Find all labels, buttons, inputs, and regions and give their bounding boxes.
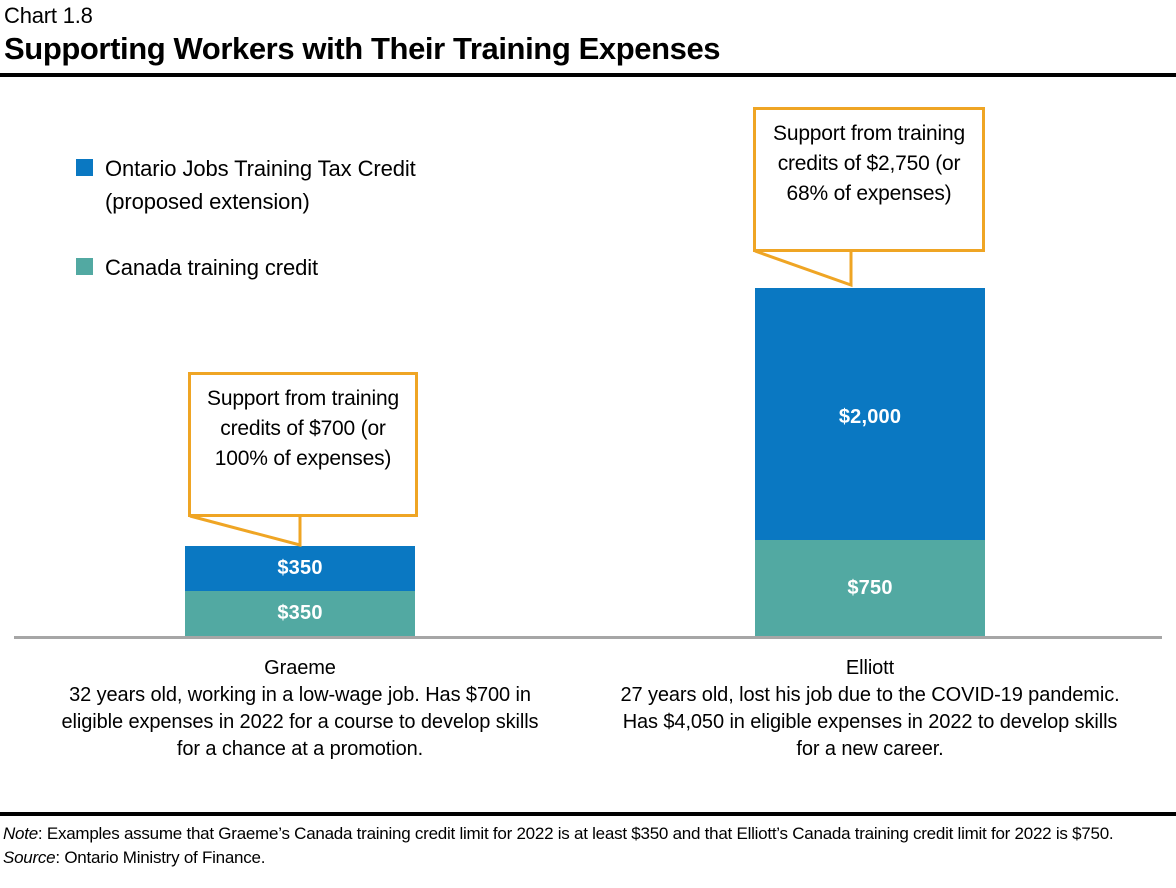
bar-segment-elliott-ojttc: $2,000 — [755, 288, 985, 540]
category-name-graeme: Graeme — [35, 655, 565, 682]
category-description-elliott: 27 years old, lost his job due to the CO… — [600, 682, 1140, 763]
footnote-source-text: : Ontario Ministry of Finance. — [55, 848, 265, 867]
bar-value-label-elliott-ojttc: $2,000 — [839, 406, 901, 429]
category-description-graeme: 32 years old, working in a low-wage job.… — [35, 682, 565, 763]
category-caption-elliott: Elliott 27 years old, lost his job due t… — [600, 655, 1140, 763]
footnote-note-label: Note — [3, 824, 38, 843]
footnote-source-label: Source — [3, 848, 55, 867]
callout-graeme: Support from training credits of $700 (o… — [188, 372, 488, 547]
bar-value-label-graeme-ctc: $350 — [277, 602, 322, 625]
callout-elliott-box: Support from training credits of $2,750 … — [753, 107, 985, 252]
footnotes: Note: Examples assume that Graeme’s Cana… — [3, 822, 1176, 870]
category-caption-graeme: Graeme 32 years old, working in a low-wa… — [35, 655, 565, 763]
footnote-source: Source: Ontario Ministry of Finance. — [3, 846, 1176, 870]
bar-value-label-elliott-ctc: $750 — [847, 577, 892, 600]
footnote-note: Note: Examples assume that Graeme’s Cana… — [3, 822, 1176, 846]
footnote-note-text: : Examples assume that Graeme’s Canada t… — [38, 824, 1113, 843]
bar-segment-graeme-ojttc: $350 — [185, 546, 415, 591]
bar-value-label-graeme-ojttc: $350 — [277, 557, 322, 580]
category-name-elliott: Elliott — [600, 655, 1140, 682]
footer-divider — [0, 812, 1176, 816]
bar-segment-elliott-ctc: $750 — [755, 540, 985, 636]
axis-baseline — [14, 636, 1162, 639]
plot-area: $350 $350 $2,000 $750 Support from train… — [0, 0, 1176, 888]
callout-graeme-box: Support from training credits of $700 (o… — [188, 372, 418, 517]
bar-segment-graeme-ctc: $350 — [185, 591, 415, 636]
bar-stack-graeme: $350 $350 — [185, 546, 415, 636]
bar-stack-elliott: $2,000 $750 — [755, 288, 985, 636]
callout-elliott: Support from training credits of $2,750 … — [753, 107, 1053, 292]
